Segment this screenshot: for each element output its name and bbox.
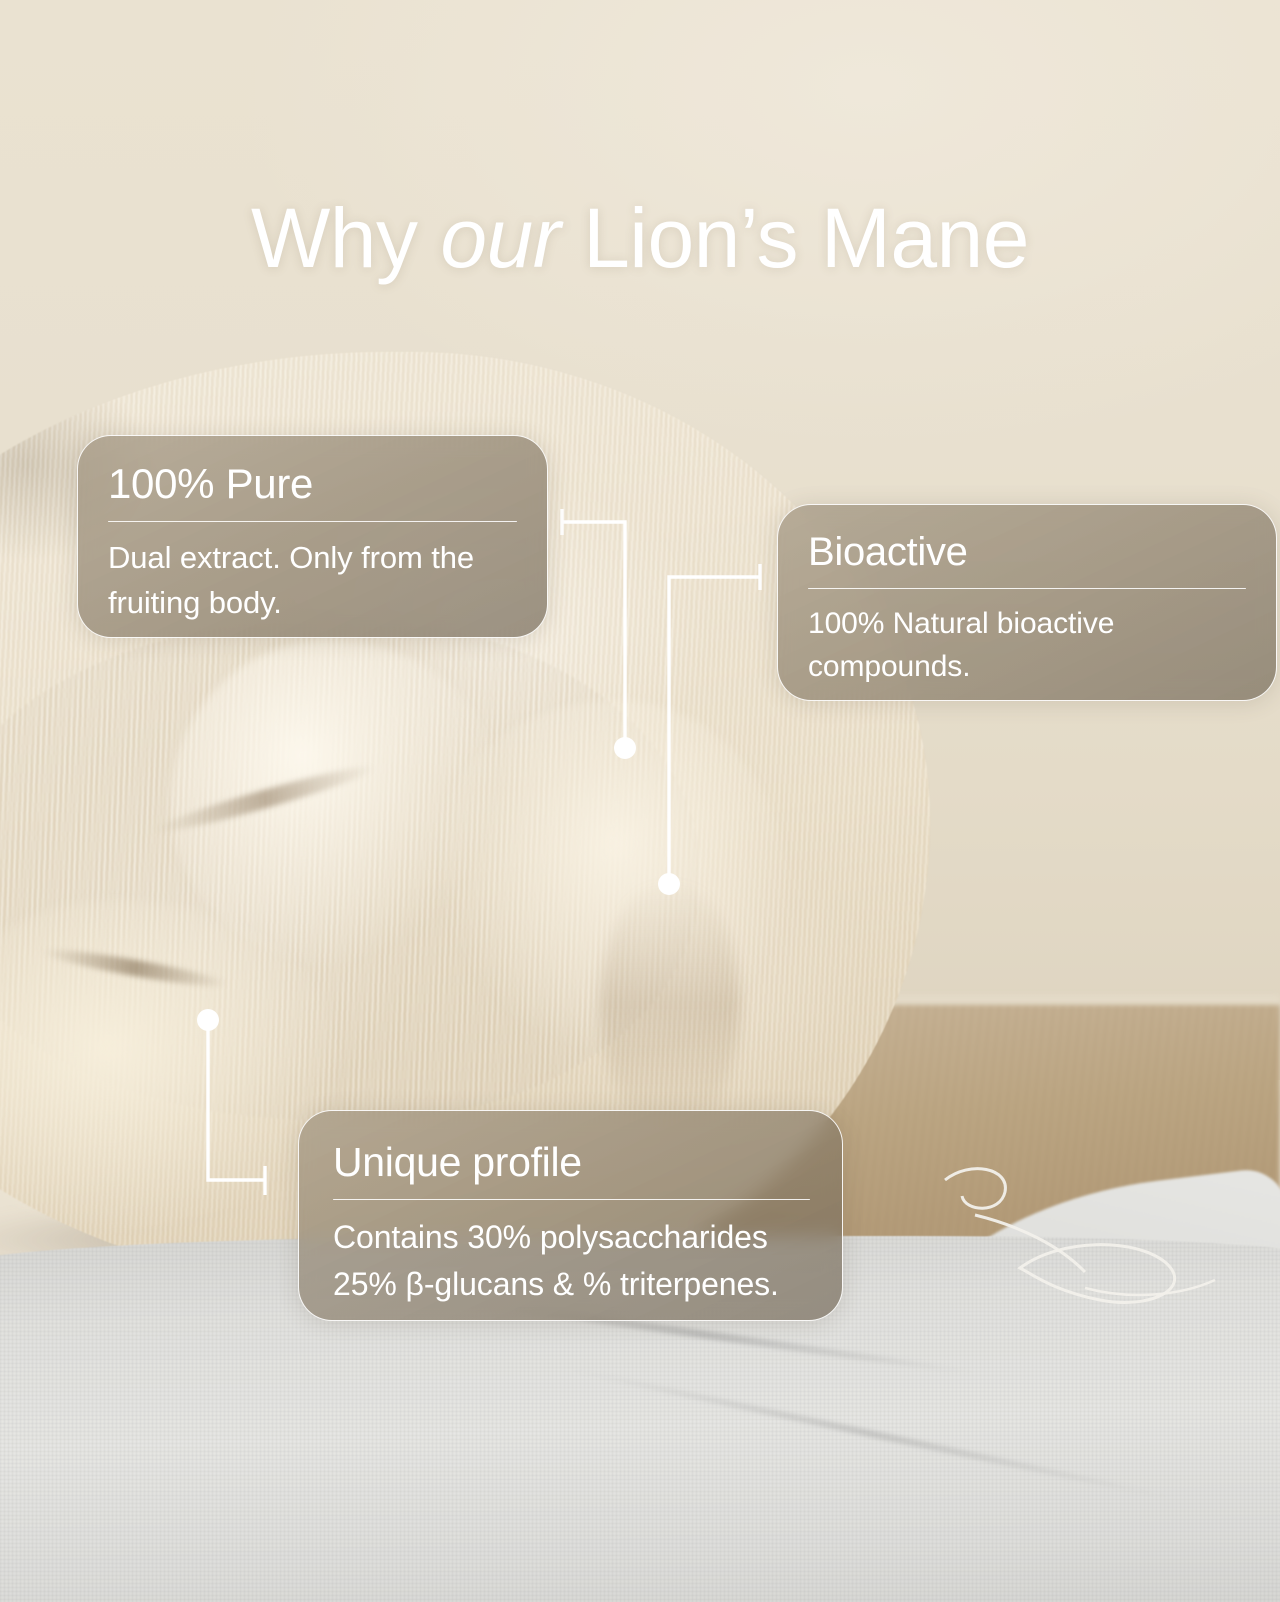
card-title-pure: 100% Pure bbox=[108, 462, 517, 506]
mushroom-crease-vertical bbox=[600, 880, 740, 1130]
card-title-bioactive: Bioactive bbox=[808, 531, 1246, 573]
card-divider-pure bbox=[108, 521, 517, 522]
card-title-unique-profile: Unique profile bbox=[333, 1141, 810, 1184]
card-body-unique-profile: Contains 30% polysaccharides 25% β-gluca… bbox=[333, 1214, 810, 1306]
card-divider-unique-profile bbox=[333, 1199, 810, 1200]
page-title: Why our Lion’s Mane bbox=[0, 196, 1280, 280]
title-text-leading: Why bbox=[251, 191, 440, 285]
title-text-trailing: Lion’s Mane bbox=[560, 191, 1029, 285]
card-divider-bioactive bbox=[808, 588, 1246, 589]
card-body-pure: Dual extract. Only from the fruiting bod… bbox=[108, 536, 517, 624]
title-text-italic: our bbox=[440, 191, 560, 285]
feature-card-unique-profile[interactable]: Unique profile Contains 30% polysacchari… bbox=[298, 1110, 843, 1321]
poster-canvas: Why our Lion’s Mane 10 bbox=[0, 0, 1280, 1602]
feature-card-bioactive[interactable]: Bioactive 100% Natural bioactive compoun… bbox=[777, 504, 1277, 701]
feature-card-pure[interactable]: 100% Pure Dual extract. Only from the fr… bbox=[77, 435, 548, 638]
card-body-bioactive: 100% Natural bioactive compounds. bbox=[808, 603, 1246, 688]
